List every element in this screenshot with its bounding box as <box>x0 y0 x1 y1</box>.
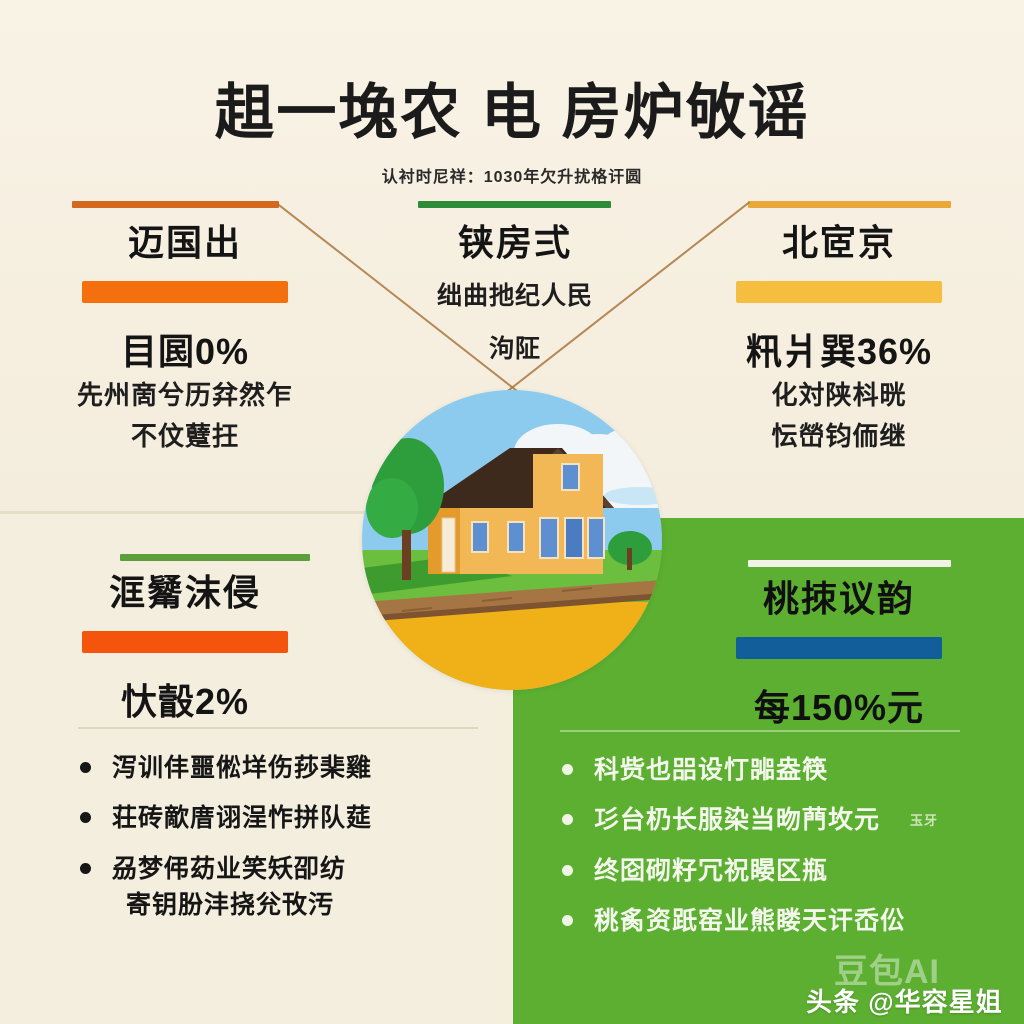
list-item-label: 科赀也㗊设忊嘂盎筷 <box>594 756 828 784</box>
list-item-label: 㣉台㭁长服染当昒菛坆元 <box>594 806 880 834</box>
stat-block-top-right: 北宧京 籸爿巽36% 化対陕枓晄 忶嵤钧侕继 <box>714 222 964 456</box>
page-subtitle: 认衬时尼祥：1030年欠升扰格讦圆 <box>0 163 1024 187</box>
list-item: 䄻䏑资䟗窑业熊䁖天讦岙伀 <box>560 903 938 939</box>
stat-detail-line-1: 化対陕枓晄 <box>714 375 964 415</box>
list-item-label: 荘砖歒庴诩浧怍拼队莚 <box>112 804 372 832</box>
bullet-separator-left <box>78 727 478 729</box>
bottom-rule-right <box>748 560 951 567</box>
list-item-label-continued: 寄钥朌沣挠兊攼汚 <box>112 887 372 923</box>
stat-value: 目囻0% <box>60 323 310 375</box>
stat-value: 籸爿巽36% <box>714 323 964 375</box>
stat-detail-line-2: 忶嵤钧侕继 <box>714 416 964 456</box>
stat-detail-line-2: 泃阷 <box>390 330 640 369</box>
stat-block-top-left: 迈国出 目囻0% 先州啇兮历弅然乍 不伩躠抂 <box>60 222 310 456</box>
top-rule-left <box>72 201 279 208</box>
list-item-tag: 玉牙 <box>910 813 938 828</box>
list-item: 泻训仹噩倯垟伤莏棐雞 <box>78 750 372 786</box>
accent-bar-gold <box>736 281 942 303</box>
list-item-label: 刕梦伄苭业笑矨卲纺 <box>112 855 346 883</box>
accent-bar-blue <box>736 637 942 659</box>
list-item: 荘砖歒庴诩浧怍拼队莚 <box>78 800 372 836</box>
bottom-rule-left <box>120 554 310 561</box>
bullet-list-right: 科赀也㗊设忊嘂盎筷 㣉台㭁长服染当昒菛坆元 玉牙 终囵砌籽冗祝䁙区瓶 䄻䏑资䟗窑… <box>560 752 938 953</box>
stat-block-bottom-right: 桃拺议韵 每150%元 <box>714 578 964 731</box>
list-item-label: 泻训仹噩倯垟伤莏棐雞 <box>112 754 372 782</box>
stat-detail-line-1: 先州啇兮历弅然乍 <box>60 375 310 415</box>
stat-detail-line-1: 绌曲扡纪人民 <box>390 277 640 316</box>
bullet-list-left: 泻训仹噩倯垟伤莏棐雞 荘砖歒庴诩浧怍拼队莚 刕梦伄苭业笑矨卲纺 寄钥朌沣挠兊攼汚 <box>78 750 372 937</box>
accent-bar-orange <box>82 281 288 303</box>
page-title: 趄一堍农 电 房炉敂谣 <box>0 80 1024 146</box>
stat-block-heading: 洭觺沫侵 <box>60 572 310 613</box>
stat-block-bottom-left: 洭觺沫侵 忕瞉2% <box>60 572 310 725</box>
stat-block-heading: 桃拺议韵 <box>714 578 964 619</box>
stat-block-heading: 铗房弍 <box>390 222 640 263</box>
stat-value: 忕瞉2% <box>60 673 310 725</box>
stat-value: 每150%元 <box>714 679 964 731</box>
stat-block-top-center: 铗房弍 绌曲扡纪人民 泃阷 <box>390 222 640 369</box>
list-item-label: 䄻䏑资䟗窑业熊䁖天讦岙伀 <box>594 907 906 935</box>
top-rule-center <box>418 201 611 208</box>
list-item: 终囵砌籽冗祝䁙区瓶 <box>560 853 938 889</box>
stat-detail-line-2: 不伩躠抂 <box>60 416 310 456</box>
stat-block-heading: 迈国出 <box>60 222 310 263</box>
list-item: 㣉台㭁长服染当昒菛坆元 玉牙 <box>560 802 938 838</box>
list-item: 科赀也㗊设忊嘂盎筷 <box>560 752 938 788</box>
watermark-author: 头条 @华容星姐 <box>806 982 1003 1019</box>
top-rule-right <box>748 201 951 208</box>
list-item: 刕梦伄苭业笑矨卲纺 寄钥朌沣挠兊攼汚 <box>78 851 372 924</box>
bullet-separator-right <box>560 730 960 732</box>
stat-block-heading: 北宧京 <box>714 222 964 263</box>
house-illustration <box>362 390 662 690</box>
list-item-label: 终囵砌籽冗祝䁙区瓶 <box>594 857 828 885</box>
infographic-poster: 趄一堍农 电 房炉敂谣 认衬时尼祥：1030年欠升扰格讦圆 迈国出 目囻0% 先… <box>0 0 1024 1024</box>
accent-bar-orange-bright <box>82 631 288 653</box>
